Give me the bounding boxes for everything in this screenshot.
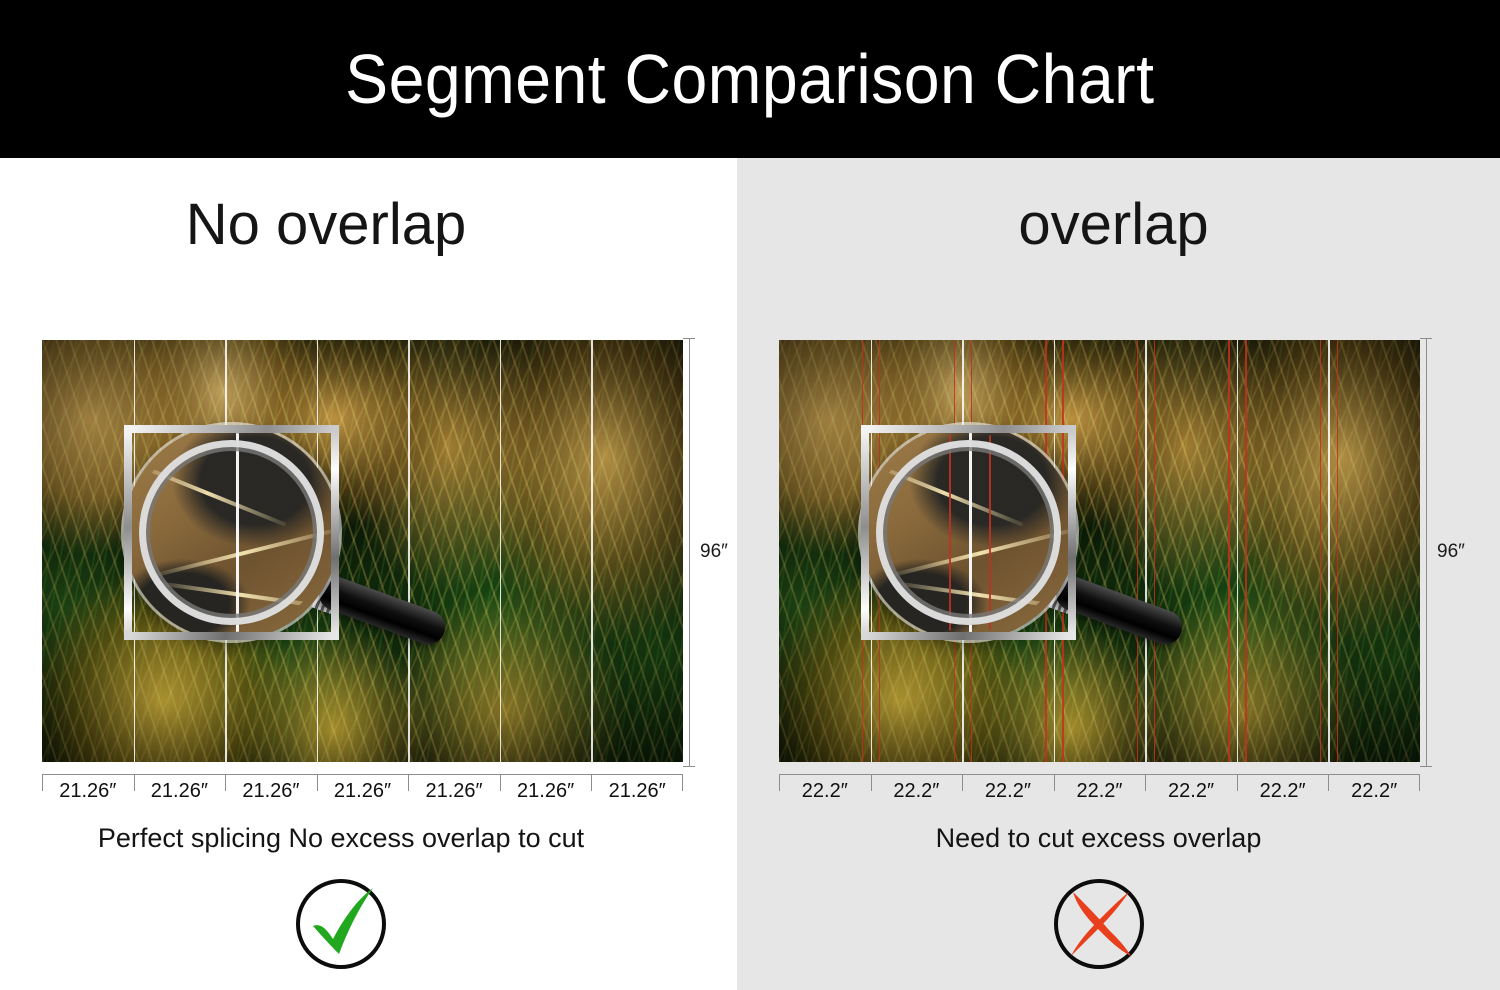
segment-divider (134, 340, 136, 762)
overlap-margin-line (1062, 340, 1063, 762)
segment-divider (1145, 340, 1147, 762)
height-dimension-line (1426, 338, 1427, 766)
overlap-margin-line (1154, 340, 1155, 762)
comparison-chart-page: Segment Comparison Chart No overlap (0, 0, 1500, 990)
segment-divider (500, 340, 502, 762)
image-vignette (779, 340, 1420, 762)
height-dimension-tick-top (1420, 338, 1432, 339)
wallpaper-preview-left (42, 340, 683, 762)
panel-no-overlap: No overlap (0, 158, 737, 990)
segment-divider (871, 340, 873, 762)
cross-icon (1051, 876, 1147, 972)
overlap-margin-line (1245, 340, 1246, 762)
overlap-margin-line (1045, 340, 1046, 762)
segment-label: 22.2″ (1328, 781, 1420, 801)
panel-heading-overlap: overlap (737, 196, 1500, 254)
segment-divider (1054, 340, 1056, 762)
caption-overlap: Need to cut excess overlap (737, 825, 1500, 852)
segment-label: 21.26″ (225, 781, 317, 801)
verdict-no-overlap (0, 876, 737, 972)
segment-label: 21.26″ (317, 781, 409, 801)
verdict-overlap (737, 876, 1500, 972)
height-dimension-tick-bottom (683, 766, 695, 767)
page-title: Segment Comparison Chart (345, 44, 1154, 114)
overlap-margin-line (1137, 340, 1138, 762)
segment-divider (317, 340, 319, 762)
height-label-left: 96″ (700, 541, 728, 563)
check-glyph (293, 876, 389, 972)
segment-dimension-rail (779, 774, 1420, 775)
overlap-margin-line (1337, 340, 1338, 762)
segment-label: 22.2″ (962, 781, 1054, 801)
height-label-right: 96″ (1437, 541, 1465, 563)
image-vignette (42, 340, 683, 762)
height-dimension-tick-top (683, 338, 695, 339)
panel-overlap: overlap (737, 158, 1500, 990)
segment-divider (591, 340, 593, 762)
segment-label: 21.26″ (42, 781, 134, 801)
segment-label: 22.2″ (779, 781, 871, 801)
overlap-margin-line (862, 340, 863, 762)
segment-label: 22.2″ (1054, 781, 1146, 801)
segment-label: 22.2″ (1145, 781, 1237, 801)
segment-label: 21.26″ (500, 781, 592, 801)
segment-labels-right: 22.2″ 22.2″ 22.2″ 22.2″ 22.2″ 22.2″ 22.2… (779, 781, 1420, 801)
segment-label: 22.2″ (1237, 781, 1329, 801)
wallpaper-preview-right (779, 340, 1420, 762)
segment-label: 21.26″ (591, 781, 683, 801)
overlap-margin-line (954, 340, 955, 762)
segment-divider (1237, 340, 1239, 762)
caption-no-overlap: Perfect splicing No excess overlap to cu… (0, 825, 737, 852)
check-icon (293, 876, 389, 972)
height-dimension-line (689, 338, 690, 766)
overlap-margin-line (971, 340, 972, 762)
artwork-overlap: 96″ 22.2″ 22.2″ 22.2″ 22.2″ 22.2″ 22.2″ (779, 340, 1420, 762)
segment-dimension-rail (42, 774, 683, 775)
cross-glyph (1051, 876, 1147, 972)
overlap-margin-line (879, 340, 880, 762)
panel-heading-no-overlap: No overlap (0, 196, 737, 254)
segment-labels-left: 21.26″ 21.26″ 21.26″ 21.26″ 21.26″ 21.26… (42, 781, 683, 801)
segment-divider (1328, 340, 1330, 762)
title-bar: Segment Comparison Chart (0, 0, 1500, 158)
overlap-margin-line (1228, 340, 1229, 762)
artwork-no-overlap: 96″ 21.26″ 21.26″ 21.26″ 21.26″ 21.26″ (42, 340, 683, 762)
segment-divider (408, 340, 410, 762)
segment-label: 21.26″ (408, 781, 500, 801)
height-dimension-tick-bottom (1420, 766, 1432, 767)
segment-divider (225, 340, 227, 762)
segment-label: 22.2″ (871, 781, 963, 801)
comparison-stage: No overlap (0, 158, 1500, 990)
segment-divider (962, 340, 964, 762)
overlap-margin-line (1320, 340, 1321, 762)
segment-label: 21.26″ (134, 781, 226, 801)
